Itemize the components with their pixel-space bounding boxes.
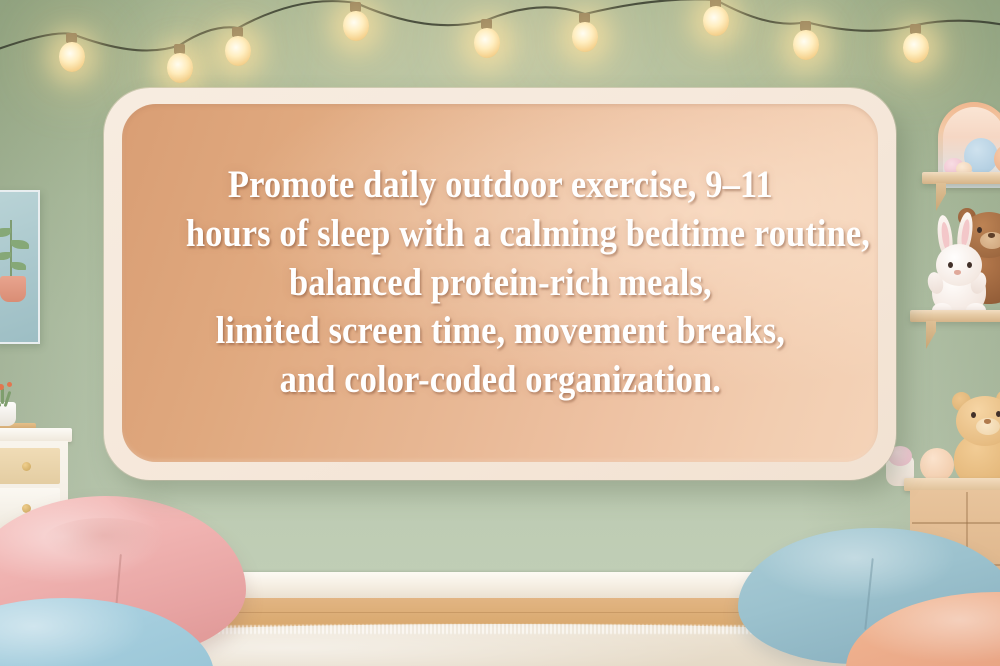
teddy-eye bbox=[977, 227, 982, 233]
dresser-top bbox=[0, 428, 72, 442]
sign-line-2: hours of sleep with a calming bedtime ro… bbox=[186, 210, 815, 259]
sign-line-4: limited screen time, movement breaks, bbox=[186, 307, 815, 356]
light-bulb-icon bbox=[903, 33, 929, 63]
light-bulb-icon bbox=[793, 30, 819, 60]
bunny-ear-inner bbox=[960, 219, 971, 248]
light-bulb-icon bbox=[59, 42, 85, 72]
bunny-eye bbox=[967, 262, 972, 268]
lower-shelf bbox=[910, 310, 1000, 322]
bunny-plush-head bbox=[936, 244, 982, 286]
art-leaf bbox=[11, 240, 29, 249]
potted-plant bbox=[0, 402, 16, 426]
light-bulb-icon bbox=[572, 22, 598, 52]
wall-sign-surface: Promote daily outdoor exercise, 9–11 hou… bbox=[122, 104, 878, 462]
plant-flower bbox=[7, 382, 12, 387]
teddy-nose bbox=[984, 419, 991, 424]
framed-plant-print bbox=[0, 190, 40, 344]
teddy-eye bbox=[971, 412, 976, 418]
upper-shelf bbox=[922, 172, 1000, 184]
light-bulb-icon bbox=[225, 36, 251, 66]
plush-ball-toy bbox=[920, 448, 954, 482]
sign-line-5: and color-coded organization. bbox=[186, 356, 815, 405]
bunny-nose bbox=[954, 270, 961, 275]
light-bulb-icon bbox=[167, 53, 193, 83]
wall-sign-text: Promote daily outdoor exercise, 9–11 hou… bbox=[186, 161, 815, 405]
light-bulb-icon bbox=[474, 28, 500, 58]
light-bulb-icon bbox=[343, 11, 369, 41]
teddy-nose bbox=[988, 233, 995, 238]
sign-line-1: Promote daily outdoor exercise, 9–11 bbox=[186, 161, 815, 210]
art-pot bbox=[0, 276, 26, 302]
bean-bag-seam bbox=[864, 558, 874, 630]
teddy-eye bbox=[996, 411, 1000, 417]
bunny-eye bbox=[948, 262, 953, 268]
sign-line-3: balanced protein-rich meals, bbox=[186, 259, 815, 308]
dresser-seam bbox=[912, 522, 1000, 524]
bean-bag-dimple bbox=[44, 518, 164, 562]
wall-sign-board[interactable]: Promote daily outdoor exercise, 9–11 hou… bbox=[104, 88, 896, 480]
art-leaf bbox=[11, 262, 26, 270]
drawer-knob[interactable] bbox=[22, 462, 31, 471]
plant-leaf bbox=[1, 388, 4, 404]
light-bulb-icon bbox=[703, 6, 729, 36]
scene-root: Promote daily outdoor exercise, 9–11 hou… bbox=[0, 0, 1000, 666]
